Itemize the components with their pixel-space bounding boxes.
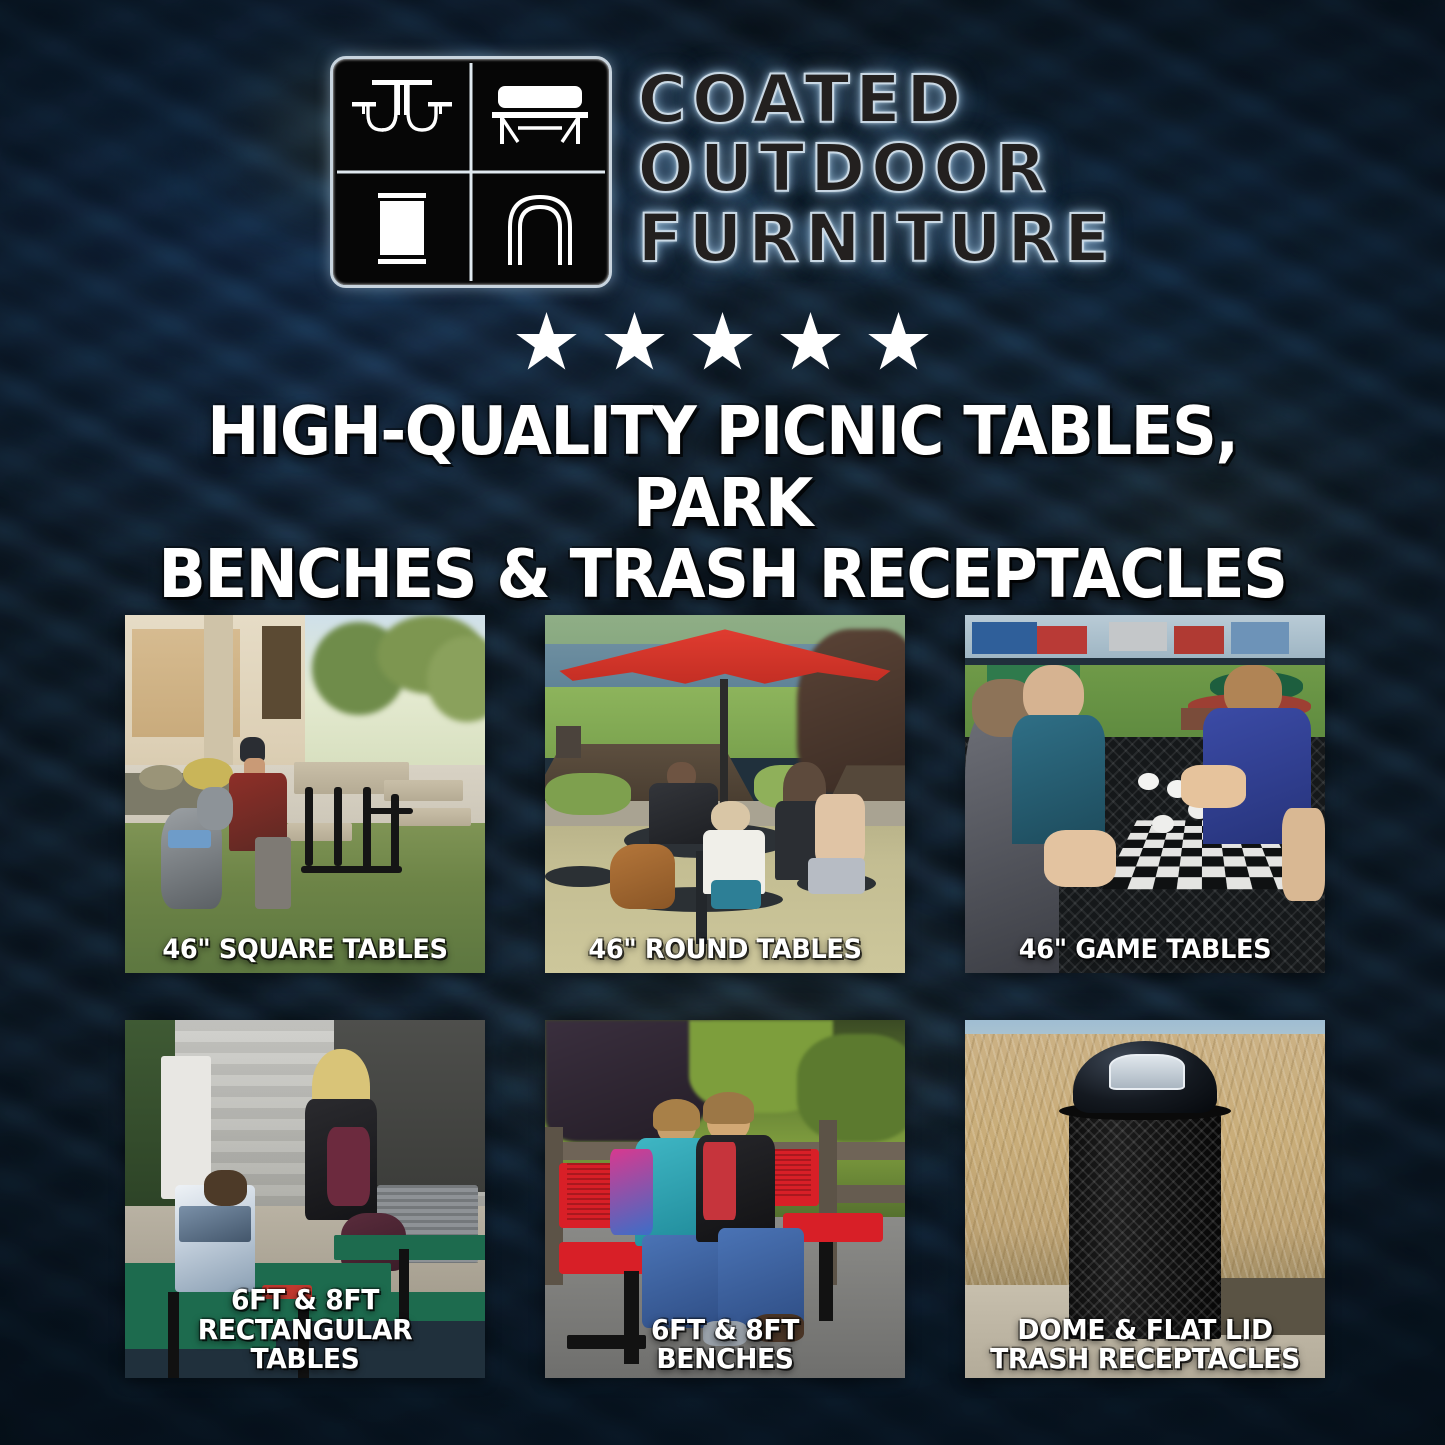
bike-rack-icon bbox=[471, 172, 609, 285]
category-caption: 46" ROUND TABLES bbox=[554, 936, 896, 965]
star-icon bbox=[692, 312, 754, 374]
coated-outdoor-furniture-logo[interactable] bbox=[330, 56, 612, 288]
caption-line-2: TRASH RECEPTACLES bbox=[980, 1344, 1311, 1374]
product-category-grid: 46" SQUARE TABLES bbox=[125, 615, 1325, 1378]
star-icon bbox=[516, 312, 578, 374]
square-tables-photo bbox=[125, 615, 485, 973]
round-tables-photo bbox=[545, 615, 905, 973]
brand-name-line-2: OUTDOOR bbox=[638, 135, 1116, 202]
category-caption: 6FT & 8FT BENCHES bbox=[554, 1315, 896, 1374]
category-card-rectangular-tables[interactable]: 6FT & 8FT RECTANGULAR TABLES bbox=[125, 1020, 485, 1378]
picnic-table-icon bbox=[333, 59, 471, 172]
category-caption: 46" SQUARE TABLES bbox=[134, 936, 476, 965]
category-card-round-tables[interactable]: 46" ROUND TABLES bbox=[545, 615, 905, 973]
star-icon bbox=[604, 312, 666, 374]
star-icon bbox=[868, 312, 930, 374]
park-bench-icon bbox=[471, 59, 609, 172]
brand-wordmark: COATED OUTDOOR FURNITURE bbox=[638, 66, 1116, 278]
star-icon bbox=[780, 312, 842, 374]
caption-line-1: 6FT & 8FT bbox=[560, 1315, 891, 1345]
category-caption: DOME & FLAT LID TRASH RECEPTACLES bbox=[974, 1315, 1316, 1374]
caption-line-2: RECTANGULAR TABLES bbox=[140, 1315, 471, 1374]
category-card-benches[interactable]: 6FT & 8FT BENCHES bbox=[545, 1020, 905, 1378]
caption-line-1: 6FT & 8FT bbox=[140, 1285, 471, 1315]
category-card-game-tables[interactable]: 46" GAME TABLES bbox=[965, 615, 1325, 973]
brand-name-line-3: FURNITURE bbox=[638, 205, 1116, 272]
category-card-square-tables[interactable]: 46" SQUARE TABLES bbox=[125, 615, 485, 973]
headline-line-2: BENCHES & TRASH RECEPTACLES bbox=[116, 539, 1330, 611]
caption-line-2: BENCHES bbox=[560, 1344, 891, 1374]
star-rating bbox=[0, 312, 1445, 374]
brand-name-line-1: COATED bbox=[638, 66, 1116, 133]
category-caption: 46" GAME TABLES bbox=[974, 936, 1316, 965]
headline-line-1: HIGH-QUALITY PICNIC TABLES, PARK bbox=[116, 396, 1330, 539]
game-tables-photo bbox=[965, 615, 1325, 973]
category-caption: 6FT & 8FT RECTANGULAR TABLES bbox=[134, 1285, 476, 1374]
caption-line-1: 46" SQUARE TABLES bbox=[140, 936, 471, 965]
category-card-trash-receptacles[interactable]: DOME & FLAT LID TRASH RECEPTACLES bbox=[965, 1020, 1325, 1378]
caption-line-1: 46" GAME TABLES bbox=[980, 936, 1311, 965]
caption-line-1: 46" ROUND TABLES bbox=[560, 936, 891, 965]
trash-receptacle-icon bbox=[333, 172, 471, 285]
caption-line-1: DOME & FLAT LID bbox=[980, 1315, 1311, 1345]
page-title: HIGH-QUALITY PICNIC TABLES, PARK BENCHES… bbox=[51, 396, 1395, 611]
brand-header: COATED OUTDOOR FURNITURE bbox=[0, 0, 1445, 288]
